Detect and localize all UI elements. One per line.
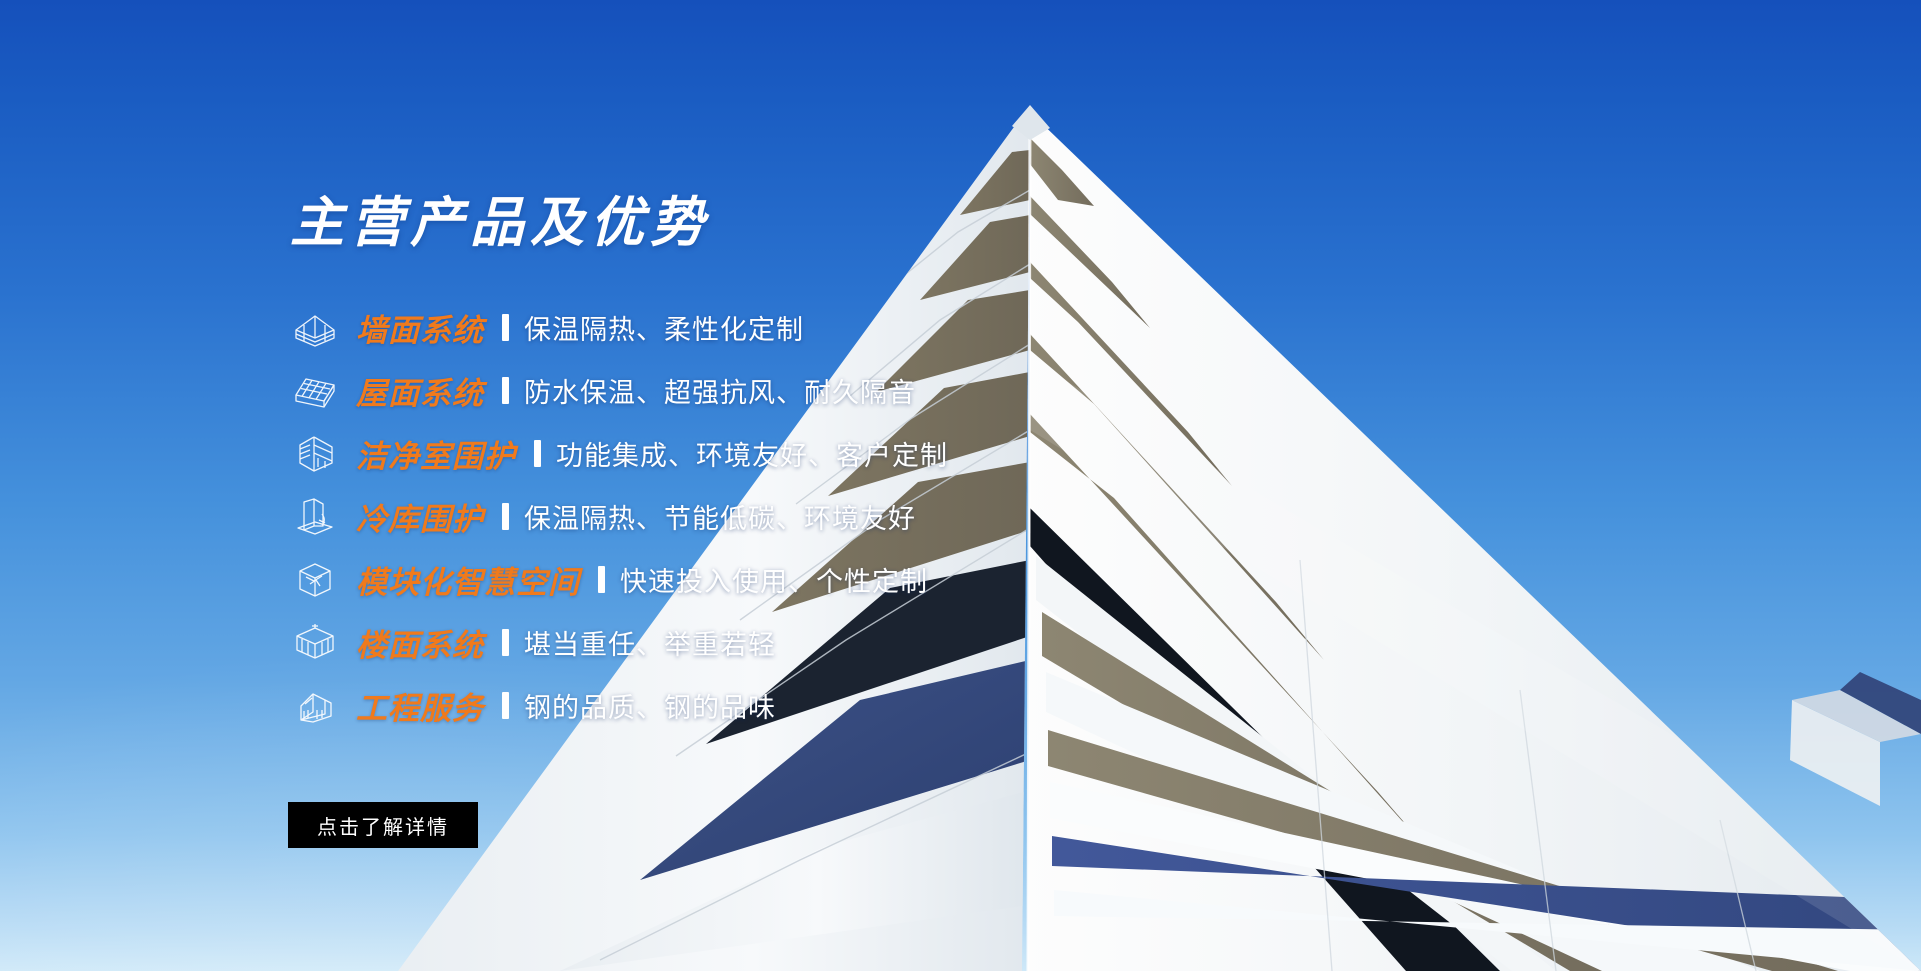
feature-row-wall-system[interactable]: 墙面系统 保温隔热、柔性化定制 xyxy=(288,296,1348,359)
feature-row-modular-smart-space[interactable]: 模块化智慧空间 快速投入使用、个性定制 xyxy=(288,548,1348,611)
feature-row-roof-system[interactable]: 屋面系统 防水保温、超强抗风、耐久隔音 xyxy=(288,359,1348,422)
feature-name: 洁净室围护 xyxy=(356,431,516,476)
feature-description: 保温隔热、节能低碳、环境友好 xyxy=(524,497,916,536)
feature-name: 屋面系统 xyxy=(356,368,484,413)
feature-name: 墙面系统 xyxy=(356,305,484,350)
feature-row-floor-system[interactable]: 楼面系统 堪当重任、举重若轻 xyxy=(288,611,1348,674)
feature-description: 功能集成、环境友好、客户定制 xyxy=(556,434,948,473)
engineering-service-icon xyxy=(288,681,342,731)
learn-more-button[interactable]: 点击了解详情 xyxy=(288,802,478,848)
feature-separator xyxy=(502,314,509,341)
wall-system-icon xyxy=(288,303,342,353)
feature-separator xyxy=(502,503,509,530)
feature-name: 工程服务 xyxy=(356,683,484,728)
banner-content: 主营产品及优势 墙面系统 保温隔热、柔性化定制 xyxy=(288,0,1388,971)
feature-description: 堪当重任、举重若轻 xyxy=(524,623,776,662)
floor-system-icon xyxy=(288,618,342,668)
product-advantage-banner: 主营产品及优势 墙面系统 保温隔热、柔性化定制 xyxy=(0,0,1921,971)
feature-name: 模块化智慧空间 xyxy=(356,557,580,602)
feature-description: 钢的品质、钢的品味 xyxy=(524,686,776,725)
feature-row-cleanroom-enclosure[interactable]: 洁净室围护 功能集成、环境友好、客户定制 xyxy=(288,422,1348,485)
feature-separator xyxy=(502,377,509,404)
modular-smart-space-icon xyxy=(288,555,342,605)
feature-name: 楼面系统 xyxy=(356,620,484,665)
roof-system-icon xyxy=(288,366,342,416)
feature-list: 墙面系统 保温隔热、柔性化定制 屋面系统 防水保温、超强抗风、 xyxy=(288,296,1348,737)
feature-separator xyxy=(502,692,509,719)
feature-name: 冷库围护 xyxy=(356,494,484,539)
feature-separator xyxy=(598,566,605,593)
feature-description: 快速投入使用、个性定制 xyxy=(620,560,928,599)
feature-separator xyxy=(534,440,541,467)
feature-row-engineering-service[interactable]: 工程服务 钢的品质、钢的品味 xyxy=(288,674,1348,737)
page-title: 主营产品及优势 xyxy=(290,196,710,250)
feature-row-cold-storage-enclosure[interactable]: 冷库围护 保温隔热、节能低碳、环境友好 xyxy=(288,485,1348,548)
feature-description: 防水保温、超强抗风、耐久隔音 xyxy=(524,371,916,410)
cleanroom-enclosure-icon xyxy=(288,429,342,479)
cold-storage-enclosure-icon xyxy=(288,492,342,542)
feature-separator xyxy=(502,629,509,656)
feature-description: 保温隔热、柔性化定制 xyxy=(524,308,804,347)
